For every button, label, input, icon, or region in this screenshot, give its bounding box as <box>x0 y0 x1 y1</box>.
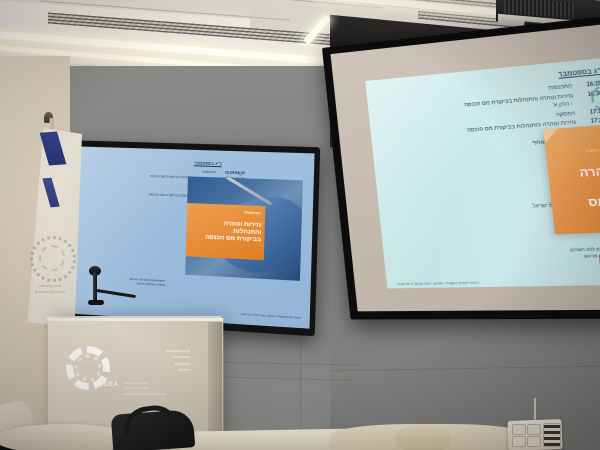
agenda-time: 18:00 <box>584 134 600 143</box>
tv-agenda-time: 16:30-17:10 <box>220 176 244 181</box>
tv-banner-title-line: בביקורת מס הכנסה <box>205 235 261 245</box>
tv-speaker-line: ראש מחלקת מיסוי, Baker Tilly ישראל <box>186 250 241 257</box>
tv-agenda-desc: סיום כינוס משותף <box>188 206 216 211</box>
tv-agenda-time <box>220 201 244 206</box>
slide-orange-banner: כנס משותף לארגון המהנדסים ולשכת רואי החש… <box>543 121 600 234</box>
tv-agenda-time <box>220 183 244 188</box>
banner-title-line: בביקורת מס הכנסה <box>551 193 600 228</box>
registration-note: ההשתתפות בכנס ללא תשלום מותנית בהרשמה מר… <box>570 245 600 261</box>
power-outlet[interactable] <box>527 424 541 435</box>
banner-subtitle: לארגון המהנדסים ולשכת רואי החשבון <box>586 144 600 153</box>
note-line-1: ההשתתפות בכנס ללא תשלום <box>570 245 600 254</box>
logo-ring-icon <box>590 83 600 112</box>
agenda-row: 16:15-16:30 התכנסות <box>396 79 600 105</box>
tv-banner-title-line: והתנהלות <box>205 228 261 238</box>
tv-banner-title-line: גזירות וטהרה <box>205 220 261 230</box>
tv-agenda-row: - חלק א' <box>90 178 245 188</box>
agenda-desc: הפסקה <box>398 110 575 130</box>
tv-moderator-name: עו"ד נירית בן גבריאל <box>186 244 241 251</box>
pen-icon <box>211 176 272 205</box>
slide-content: ארגון המהנדסיםוהאדריכליםהעצמאיים כ"ג בספ… <box>365 55 600 288</box>
agenda-row: 17:25-18:00 גזירות וטהרה והתנהלות בביקור… <box>399 116 600 139</box>
tv-slide-content: כ"ג בספטמבר 16:15-16:30 התכנסות 16:30-17… <box>75 155 310 323</box>
tv-agenda-desc: - חלק ב' <box>203 201 216 206</box>
tv-agenda-time: 16:15-16:30 <box>221 170 245 175</box>
agenda-time: 17:25-18:00 <box>582 116 600 126</box>
screen-surface: ארגון המהנדסיםוהאדריכליםהעצמאיים כ"ג בספ… <box>330 21 600 311</box>
organization-logo: ארגון המהנדסיםוהאדריכליםהעצמאיים <box>590 81 600 113</box>
banner-fold-corner <box>543 128 560 143</box>
socket-cable <box>534 398 536 422</box>
tv-slide-header: כ"ג בספטמבר <box>194 160 222 166</box>
tv-banner-kicker: כנס משותף <box>244 210 261 215</box>
tv-agenda-desc: הפסקה <box>204 188 216 193</box>
podium-brand: IOCEA <box>96 381 119 388</box>
agenda-time: 16:30-17:10 <box>579 89 600 99</box>
projection-screen: ארגון המהנדסיםוהאדריכליםהעצמאיים כ"ג בספ… <box>322 12 600 319</box>
slide-photo-signing-document <box>185 176 303 281</box>
tv-agenda-desc: גזירות וטהרה והתנהלות בביקורת מס הכנסה <box>150 174 217 180</box>
power-outlet[interactable] <box>527 436 541 447</box>
banner-title-line: גזירות וטהרה <box>548 162 600 183</box>
tv-agenda-row: 17:25-18:00 גזירות וטהרה והתנהלות בביקור… <box>89 190 244 200</box>
conference-room-photo: ארגון המהנדסיםוהאדריכליםהעצמאיים כ"ג בספ… <box>0 0 600 450</box>
tv-agenda-row: - חלק ב' <box>89 196 244 206</box>
slide-footer: הכנס יתקיים במשרדי הארגון, רחוב הרצל 1 ת… <box>397 281 479 287</box>
agenda-desc: התכנסות <box>396 83 573 105</box>
tv-agenda-desc: גזירות וטהרה והתנהלות בביקורת מס הכנסה <box>149 192 216 199</box>
banner-title-line: והתנהלות <box>549 177 600 197</box>
moderator-name: עו"ד נירית בן גבריאל <box>555 190 600 199</box>
tv-logo-ring-icon <box>225 171 242 188</box>
power-outlet[interactable] <box>512 436 526 447</box>
agenda-time: 16:15-16:30 <box>578 79 600 89</box>
moderator-block: מנחה: עו"ד נירית בן גבריאל ראש מחלקת מיס… <box>531 189 600 212</box>
tv-agenda-desc: - חלק א' <box>203 182 216 187</box>
podium-english-text: ORGANIZATIONOF CONSULTINGENGINEERS & ARC… <box>124 381 194 397</box>
tv-agenda-time: 17:25-18:00 <box>220 195 244 200</box>
tv-agenda-row: 16:30-17:10 גזירות וטהרה והתנהלות בביקור… <box>90 172 245 181</box>
power-outlet[interactable] <box>512 424 526 435</box>
agenda-desc: סיום כינוס משותף <box>401 137 579 155</box>
agenda-subline: - חלק ב' <box>400 125 600 147</box>
tv-agenda-time: 18:00 <box>219 207 243 212</box>
speaker-line: ראש מחלקת מיסוי, Baker Tilly ישראל <box>532 199 600 210</box>
tv-orange-banner: כנס משותף גזירות וטהרה והתנהלות בביקורת … <box>186 203 266 260</box>
agenda-desc: גזירות וטהרה והתנהלות בביקורת מס הכנסה <box>399 120 576 139</box>
wall-mounted-tv: כ"ג בספטמבר 16:15-16:30 התכנסות 16:30-17… <box>57 140 320 336</box>
agenda-desc: גזירות וטהרה והתנהלות בביקורת מס הכנסה <box>397 93 574 114</box>
agenda-list: 16:15-16:30 התכנסות 16:30-17:10 גזירות ו… <box>396 79 600 158</box>
note-line-2: מותנית בהרשמה מראש <box>570 252 600 261</box>
tv-slide-footer: הכנס יתקיים במשרדי הארגון, רחוב הרצל 1 ת… <box>241 313 301 320</box>
tv-agenda-row: 16:15-16:30 התכנסות <box>90 166 245 175</box>
tv-agenda-row: 18:00 סיום כינוס משותף <box>89 202 244 212</box>
agenda-row: 16:30-17:10 גזירות וטהרה והתנהלות בביקור… <box>397 89 600 114</box>
flag-emblem-caption: ארגון המהנדסיםוהאדריכלים העצמאיים <box>26 283 74 295</box>
flag-emblem-inner-icon <box>39 245 65 271</box>
gloved-hand-shape <box>209 191 303 280</box>
agenda-subline: - חלק א' <box>397 97 600 121</box>
podium-hebrew-text: ארגון המהנדסיםוהאדריכליםהעצמאייםבישראל <box>124 348 190 373</box>
foreground-object <box>396 424 450 450</box>
slide-header: כ"ג בספטמבר <box>558 67 600 79</box>
tv-moderator-block: עו"ד נירית בן גבריאל ראש מחלקת מיסוי, Ba… <box>186 244 241 259</box>
podium-logo-inner-ring <box>74 354 102 382</box>
agenda-row: 17:10-17:25 הפסקה <box>398 106 600 130</box>
tv-agenda-list: 16:15-16:30 התכנסות 16:30-17:10 גזירות ו… <box>89 166 245 215</box>
tv-banner-title: גזירות וטהרה והתנהלות בביקורת מס הכנסה <box>205 220 262 245</box>
agenda-row: 18:00 סיום כינוס משותף <box>401 134 600 156</box>
tv-agenda-time: 17:10-17:25 <box>220 189 244 194</box>
data-port-icon[interactable] <box>543 423 561 447</box>
agenda-time: 17:10-17:25 <box>581 106 600 116</box>
tv-agenda-row: 17:10-17:25 הפסקה <box>90 184 245 194</box>
banner-title: גזירות וטהרה והתנהלות בביקורת מס הכנסה <box>548 162 600 227</box>
microphone-base <box>88 300 104 305</box>
tv-agenda-desc: התכנסות <box>202 170 216 175</box>
